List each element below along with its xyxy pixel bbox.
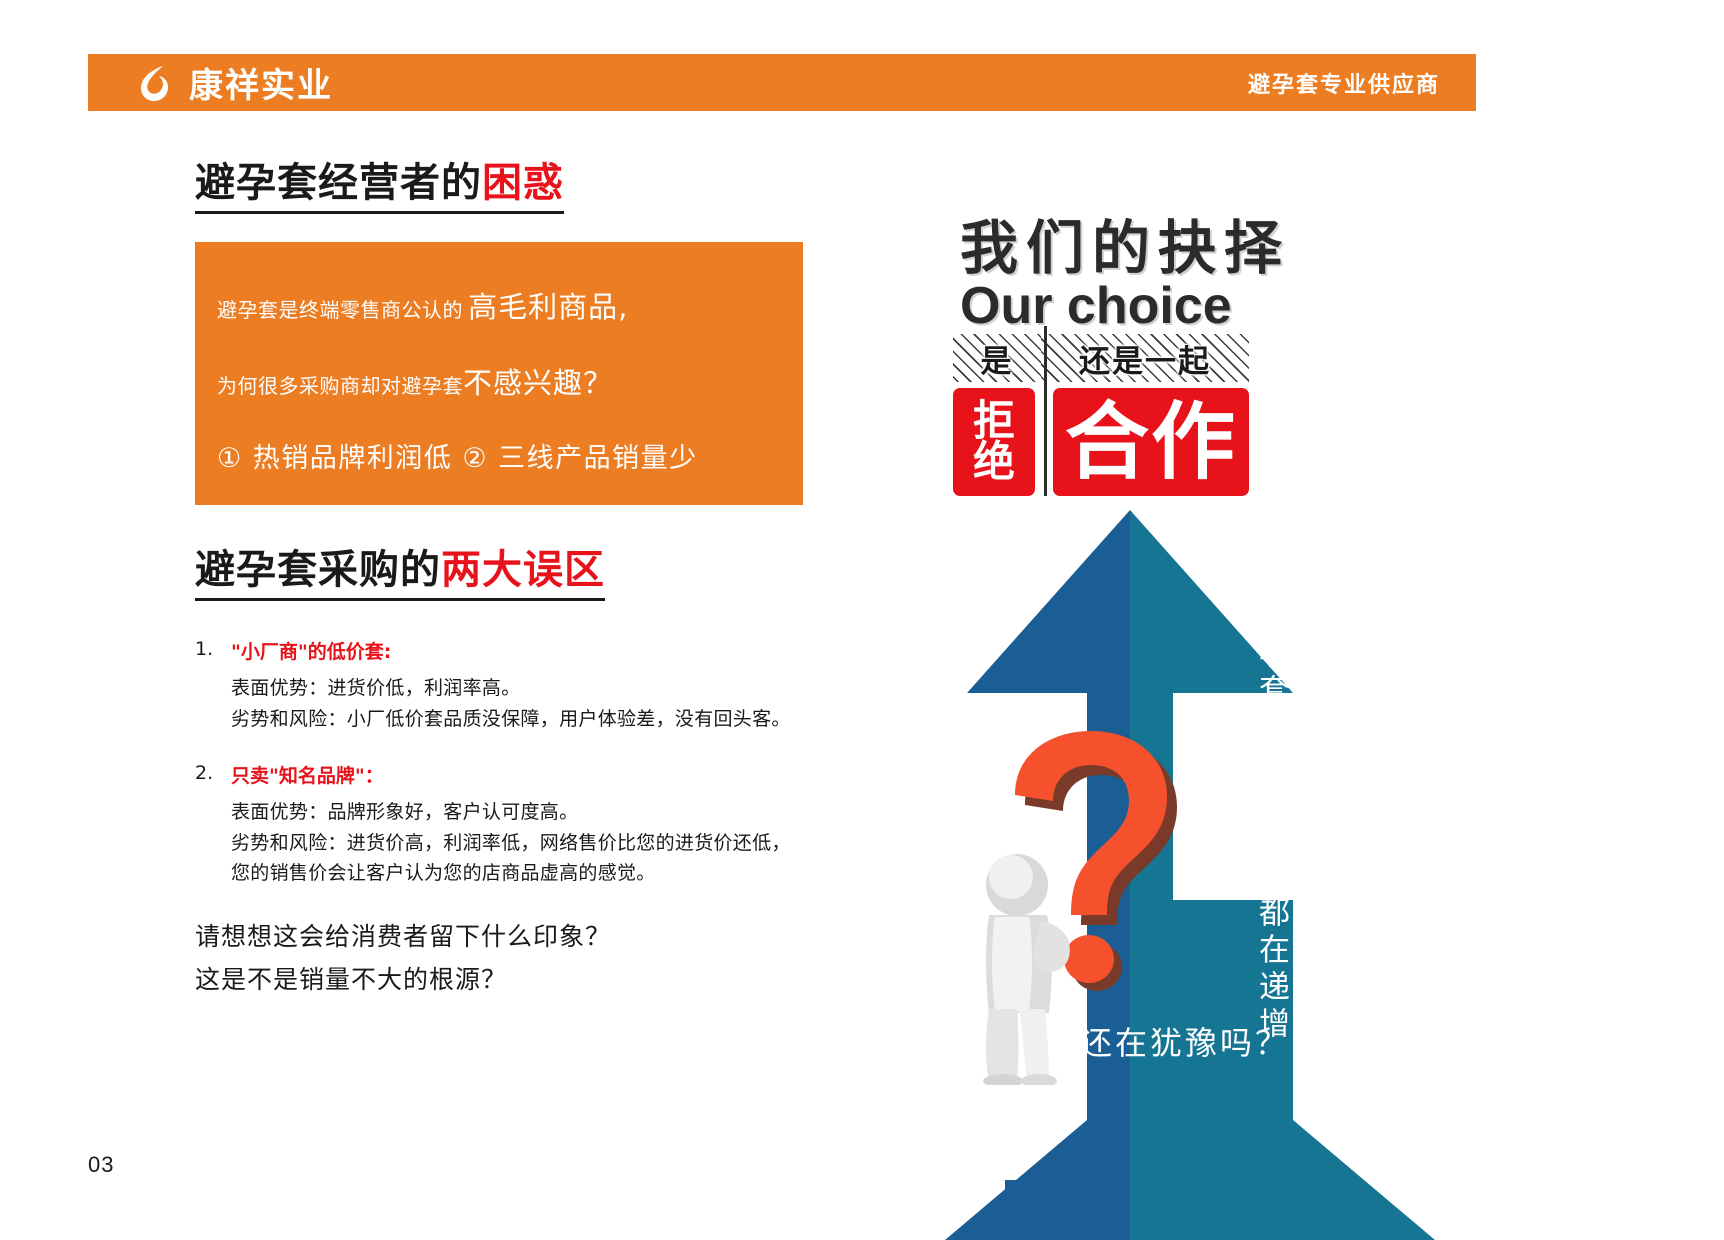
orange-callout-box: 避孕套是终端零售商公认的 高毛利商品, 为何很多采购商却对避孕套不感兴趣？ ① … bbox=[195, 242, 803, 505]
callout-line-2: 为何很多采购商却对避孕套不感兴趣？ bbox=[217, 360, 803, 402]
pitfall-title: 只卖"知名品牌"： bbox=[231, 761, 895, 788]
closing-questions: 请想想这会给消费者留下什么印象？ 这是不是销量不大的根源？ bbox=[195, 915, 895, 1001]
hatch-right: 还是一起 bbox=[1041, 334, 1249, 382]
left-content-column: 避孕套经营者的困惑 避孕套是终端零售商公认的 高毛利商品, 为何很多采购商却对避… bbox=[195, 160, 895, 1001]
band-text-right: 还是一起 bbox=[1079, 336, 1211, 381]
reject-red-box: 拒 绝 bbox=[953, 388, 1035, 496]
pitfall-number: 1. bbox=[195, 637, 231, 735]
callout-line-1-big: 高毛利商品, bbox=[468, 290, 628, 324]
right-graphic-panel: 避孕套每年使用量都在递增 您还在犹豫吗？ 我们的抉择 Our choice 是 … bbox=[905, 0, 1724, 1240]
pitfall-body: "小厂商"的低价套: 表面优势：进货价低，利润率高。 劣势和风险：小厂低价套品质… bbox=[231, 637, 895, 735]
pitfall-body: 只卖"知名品牌"： 表面优势：品牌形象好，客户认可度高。 劣势和风险：进货价高，… bbox=[231, 761, 895, 889]
callout-line-2-small: 为何很多采购商却对避孕套 bbox=[217, 374, 463, 398]
heading-2-accent: 两大误区 bbox=[441, 547, 605, 593]
our-choice-cn: 我们的抉择 bbox=[960, 218, 1380, 278]
closing-question-1: 请想想这会给消费者留下什么印象？ bbox=[195, 915, 895, 958]
hatch-left: 是 bbox=[953, 334, 1041, 382]
cooperate-red-box: 合作 bbox=[1053, 388, 1249, 496]
cooperate-text: 合作 bbox=[1065, 400, 1237, 484]
growth-vertical-text: 避孕套每年使用量都在递增 bbox=[1234, 600, 1290, 1044]
band-text-left: 是 bbox=[981, 336, 1014, 381]
callout-line-3: ① 热销品牌利润低 ② 三线产品销量少 bbox=[217, 436, 803, 475]
pitfall-line: 表面优势：进货价低，利润率高。 bbox=[231, 673, 895, 704]
brand-name: 康祥实业 bbox=[189, 58, 333, 107]
list-item: 1. "小厂商"的低价套: 表面优势：进货价低，利润率高。 劣势和风险：小厂低价… bbox=[195, 637, 895, 735]
heading-2-plain: 避孕套采购的 bbox=[195, 547, 441, 593]
heading-1-wrap: 避孕套经营者的困惑 bbox=[195, 160, 895, 214]
list-item: 2. 只卖"知名品牌"： 表面优势：品牌形象好，客户认可度高。 劣势和风险：进货… bbox=[195, 761, 895, 889]
pitfall-line: 劣势和风险：进货价高，利润率低，网络售价比您的进货价还低， bbox=[231, 828, 895, 859]
heading-2-wrap: 避孕套采购的两大误区 bbox=[195, 547, 895, 601]
pitfall-list: 1. "小厂商"的低价套: 表面优势：进货价低，利润率高。 劣势和风险：小厂低价… bbox=[195, 637, 895, 889]
section-heading-2: 避孕套采购的两大误区 bbox=[195, 547, 605, 601]
pitfall-title: "小厂商"的低价套: bbox=[231, 637, 895, 664]
our-choice-heading: 我们的抉择 Our choice bbox=[960, 218, 1380, 334]
pitfall-line: 劣势和风险：小厂低价套品质没保障，用户体验差，没有回头客。 bbox=[231, 704, 895, 735]
closing-question-2: 这是不是销量不大的根源？ bbox=[195, 958, 895, 1001]
pitfall-line: 您的销售价会让客户认为您的店商品虚高的感觉。 bbox=[231, 858, 895, 889]
brand-group: 康祥实业 bbox=[88, 58, 333, 107]
reject-char-1: 拒 bbox=[973, 401, 1015, 442]
callout-reasons: ① 热销品牌利润低 ② 三线产品销量少 bbox=[217, 443, 698, 474]
hesitate-question-text: 您还在犹豫吗？ bbox=[1045, 1018, 1290, 1064]
section-heading-1: 避孕套经营者的困惑 bbox=[195, 160, 564, 214]
flame-leaf-logo-icon bbox=[133, 62, 175, 104]
choice-divider-line bbox=[1044, 326, 1047, 496]
heading-1-accent: 困惑 bbox=[482, 160, 564, 206]
our-choice-en: Our choice bbox=[960, 278, 1380, 334]
callout-line-1-small: 避孕套是终端零售商公认的 bbox=[217, 298, 463, 322]
page-number: 03 bbox=[88, 1152, 114, 1178]
callout-line-2-big: 不感兴趣？ bbox=[463, 366, 613, 400]
reject-char-2: 绝 bbox=[973, 442, 1015, 483]
callout-line-1: 避孕套是终端零售商公认的 高毛利商品, bbox=[217, 284, 803, 326]
pitfall-line: 表面优势：品牌形象好，客户认可度高。 bbox=[231, 797, 895, 828]
pitfall-number: 2. bbox=[195, 761, 231, 889]
choice-hatch-band: 是 还是一起 bbox=[953, 334, 1249, 382]
heading-1-plain: 避孕套经营者的 bbox=[195, 160, 482, 206]
